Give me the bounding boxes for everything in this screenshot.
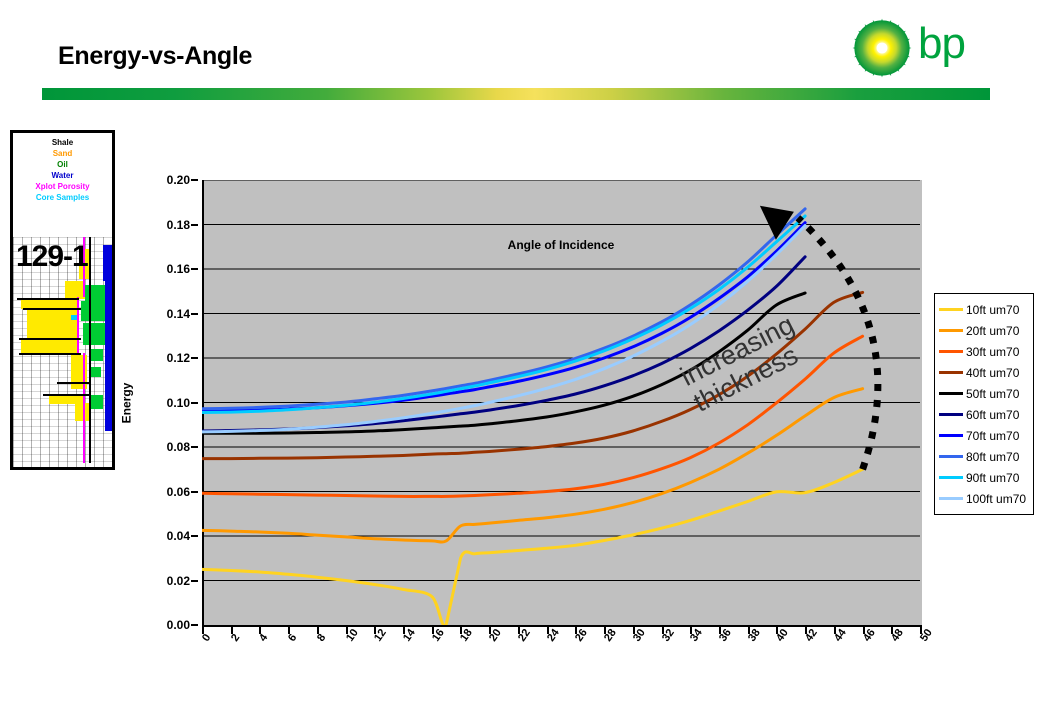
legend-item[interactable]: 40ft um70 [939, 362, 1029, 383]
y-tick-mark [191, 402, 198, 404]
well-log-oil-fill [89, 349, 103, 361]
legend-color-swatch [939, 455, 963, 458]
y-tick-mark [191, 580, 198, 582]
legend-color-swatch [939, 371, 963, 374]
legend-color-swatch [939, 434, 963, 437]
well-log-legend-item: Water [13, 170, 112, 181]
legend-item-label: 70ft um70 [966, 429, 1019, 443]
legend-color-swatch [939, 308, 963, 311]
y-tick-label: 0.00 [167, 618, 190, 632]
y-tick-label: 0.02 [167, 574, 190, 588]
brand-divider-bar [42, 88, 990, 100]
y-tick-label: 0.10 [167, 396, 190, 410]
legend-color-swatch [939, 350, 963, 353]
well-log-sand-fill [65, 281, 85, 299]
well-log-sand-fill [21, 339, 79, 353]
legend-item[interactable]: 30ft um70 [939, 341, 1029, 362]
well-log-id-text: 129-1 [16, 240, 88, 274]
legend-item[interactable]: 80ft um70 [939, 446, 1029, 467]
well-log-oil-fill [85, 285, 105, 301]
well-log-shale-trace [19, 338, 81, 340]
y-tick-mark [191, 224, 198, 226]
legend-item-label: 30ft um70 [966, 345, 1019, 359]
legend-item[interactable]: 70ft um70 [939, 425, 1029, 446]
legend-item-label: 10ft um70 [966, 303, 1019, 317]
legend-item-label: 80ft um70 [966, 450, 1019, 464]
legend-item-label: 20ft um70 [966, 324, 1019, 338]
series-legend: 10ft um7020ft um7030ft um7040ft um7050ft… [934, 293, 1034, 515]
y-axis-ticks: 0.000.020.040.060.080.100.120.140.160.18… [154, 180, 198, 625]
x-tick-label: 0 [200, 632, 213, 644]
y-tick-label: 0.20 [167, 173, 190, 187]
well-log-panel: Shale Sand Oil Water Xplot Porosity Core… [10, 130, 115, 470]
x-tick-label: 4 [257, 632, 270, 644]
legend-item-label: 90ft um70 [966, 471, 1019, 485]
legend-color-swatch [939, 497, 963, 500]
well-log-sand-fill [75, 403, 89, 421]
well-log-legend-item: Sand [13, 148, 112, 159]
well-log-oil-fill [81, 301, 105, 321]
page-title: Energy-vs-Angle [58, 42, 252, 71]
legend-color-swatch [939, 329, 963, 332]
x-axis-ticks: 0246810121416182022242628303234363840424… [202, 627, 920, 687]
well-log-legend: Shale Sand Oil Water Xplot Porosity Core… [13, 137, 112, 235]
energy-vs-angle-chart: 0.000.020.040.060.080.100.120.140.160.18… [202, 180, 920, 625]
y-tick-mark [191, 446, 198, 448]
well-log-core-marker [71, 315, 77, 320]
legend-item[interactable]: 90ft um70 [939, 467, 1029, 488]
bp-helios-icon [852, 18, 912, 78]
well-log-shale-trace [23, 308, 81, 310]
well-log-sand-fill [27, 309, 79, 339]
legend-item-label: 50ft um70 [966, 387, 1019, 401]
x-tick-label: 8 [315, 632, 328, 644]
y-tick-label: 0.12 [167, 351, 190, 365]
legend-item[interactable]: 50ft um70 [939, 383, 1029, 404]
series-lines [202, 209, 863, 625]
page-header: Energy-vs-Angle bp [0, 0, 1040, 110]
well-log-legend-item: Oil [13, 159, 112, 170]
well-log-shale-trace [57, 382, 89, 384]
well-log-xplot-trace [83, 353, 85, 463]
x-tick-label: 2 [229, 632, 242, 644]
y-tick-mark [191, 179, 198, 181]
well-log-legend-item: Core Samples [13, 192, 112, 203]
legend-color-swatch [939, 392, 963, 395]
well-log-xplot-trace [77, 297, 79, 353]
well-log-oil-fill [91, 395, 103, 409]
y-tick-label: 0.08 [167, 440, 190, 454]
x-axis-label: Angle of Incidence [202, 238, 920, 252]
y-tick-mark [191, 491, 198, 493]
bp-logo: bp [852, 18, 980, 80]
legend-item-label: 60ft um70 [966, 408, 1019, 422]
legend-color-swatch [939, 413, 963, 416]
y-tick-mark [191, 313, 198, 315]
y-tick-mark [191, 535, 198, 537]
well-log-shale-trace [43, 394, 89, 396]
well-log-shale-trace [17, 298, 79, 300]
y-tick-label: 0.14 [167, 307, 190, 321]
legend-item[interactable]: 10ft um70 [939, 299, 1029, 320]
well-log-legend-item: Shale [13, 137, 112, 148]
legend-item[interactable]: 60ft um70 [939, 404, 1029, 425]
bp-wordmark: bp [918, 22, 965, 66]
y-tick-mark [191, 624, 198, 626]
well-log-shale-trace [19, 353, 81, 355]
well-log-water-fill [105, 281, 112, 431]
well-log-oil-fill [83, 323, 105, 345]
well-log-legend-item: Xplot Porosity [13, 181, 112, 192]
legend-item-label: 100ft um70 [966, 492, 1026, 506]
legend-color-swatch [939, 476, 963, 479]
y-tick-mark [191, 268, 198, 270]
y-tick-label: 0.18 [167, 218, 190, 232]
x-tick-label: 6 [286, 632, 299, 644]
y-tick-label: 0.06 [167, 485, 190, 499]
legend-item[interactable]: 20ft um70 [939, 320, 1029, 341]
legend-item-label: 40ft um70 [966, 366, 1019, 380]
y-tick-label: 0.04 [167, 529, 190, 543]
well-log-id-badge: 129-1 [13, 238, 112, 274]
y-tick-label: 0.16 [167, 262, 190, 276]
y-tick-mark [191, 357, 198, 359]
y-axis-label: Energy [119, 382, 133, 423]
legend-item[interactable]: 100ft um70 [939, 488, 1029, 509]
